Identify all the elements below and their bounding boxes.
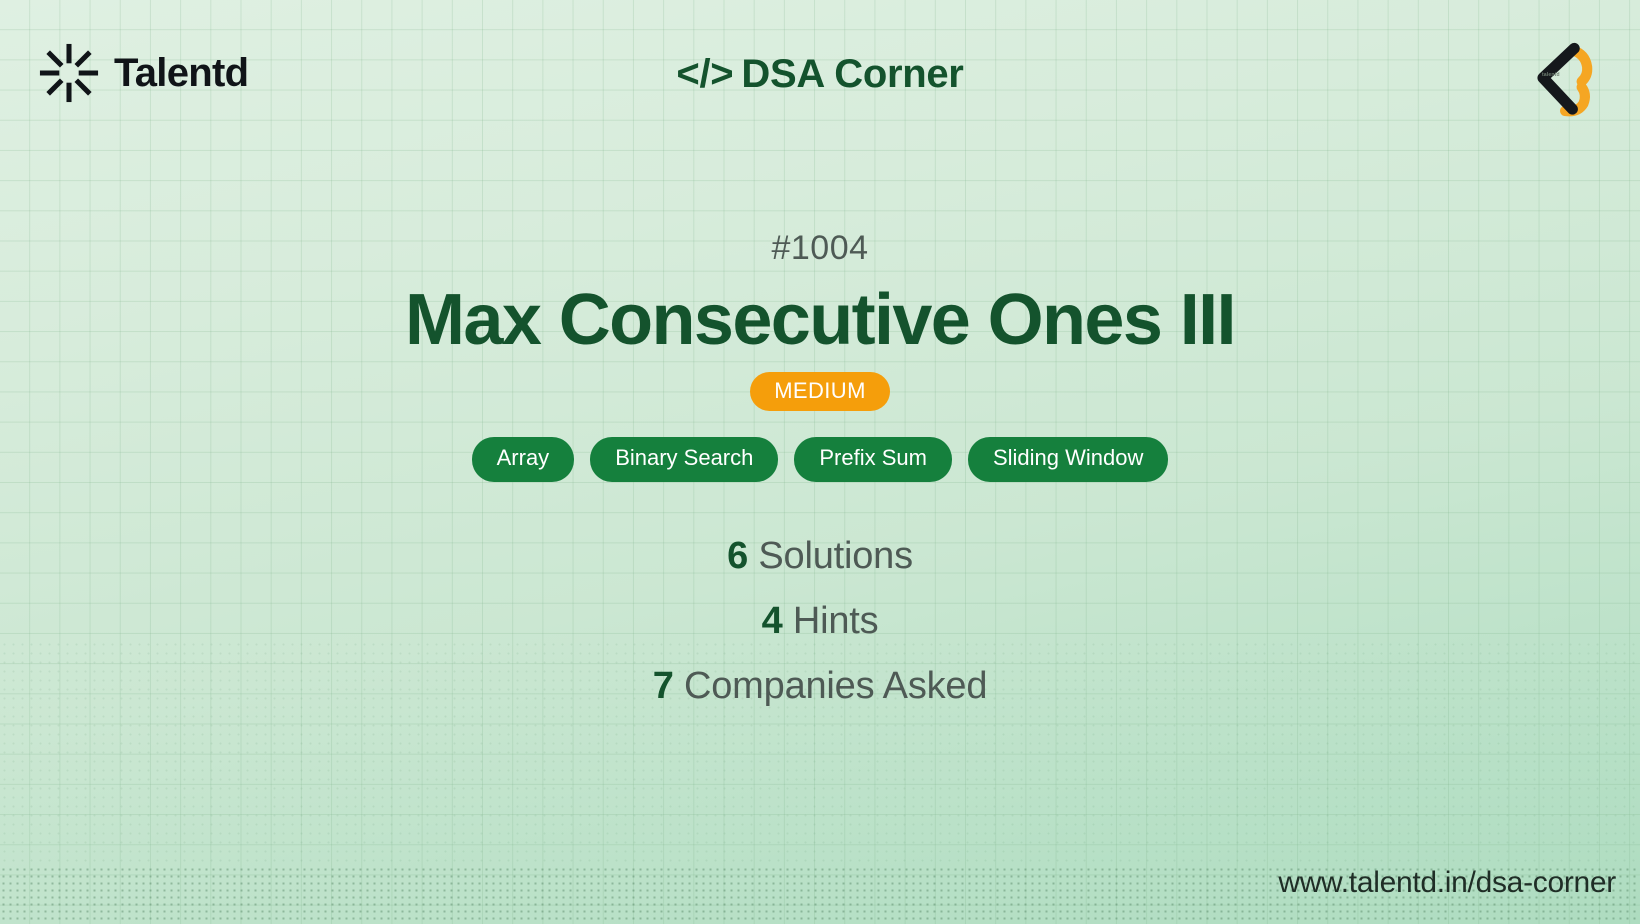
topic-tag[interactable]: Sliding Window: [968, 437, 1168, 481]
footer-url[interactable]: www.talentd.in/dsa-corner: [1278, 866, 1616, 900]
stat-label: Hints: [793, 600, 879, 642]
topic-tag-list: Array Binary Search Prefix Sum Sliding W…: [0, 437, 1640, 481]
stat-label: Solutions: [758, 535, 913, 577]
stat-label: Companies Asked: [684, 665, 987, 707]
topic-tag[interactable]: Binary Search: [590, 437, 778, 481]
problem-number: #1004: [0, 228, 1640, 269]
stat-row: 4 Hints: [0, 589, 1640, 654]
code-tag-icon: </>: [676, 52, 733, 96]
problem-title: Max Consecutive Ones III: [0, 283, 1640, 359]
topic-tag[interactable]: Array: [472, 437, 575, 481]
stats-list: 6 Solutions 4 Hints 7 Companies Asked: [0, 524, 1640, 720]
page-header: Talentd </>DSA Corner talentd: [0, 0, 1640, 152]
stat-row: 6 Solutions: [0, 524, 1640, 589]
corner-logo-wordmark: talentd: [1542, 72, 1560, 78]
stat-value: 4: [762, 600, 783, 642]
difficulty-badge: MEDIUM: [750, 372, 890, 411]
page-title: </>DSA Corner: [0, 52, 1640, 97]
topic-tag[interactable]: Prefix Sum: [794, 437, 952, 481]
stat-value: 6: [727, 535, 748, 577]
problem-card: #1004 Max Consecutive Ones III MEDIUM Ar…: [0, 228, 1640, 720]
stat-row: 7 Companies Asked: [0, 654, 1640, 719]
page-title-text: DSA Corner: [741, 52, 963, 96]
chevron-c-logo-icon[interactable]: talentd: [1508, 30, 1600, 122]
stat-value: 7: [653, 665, 674, 707]
